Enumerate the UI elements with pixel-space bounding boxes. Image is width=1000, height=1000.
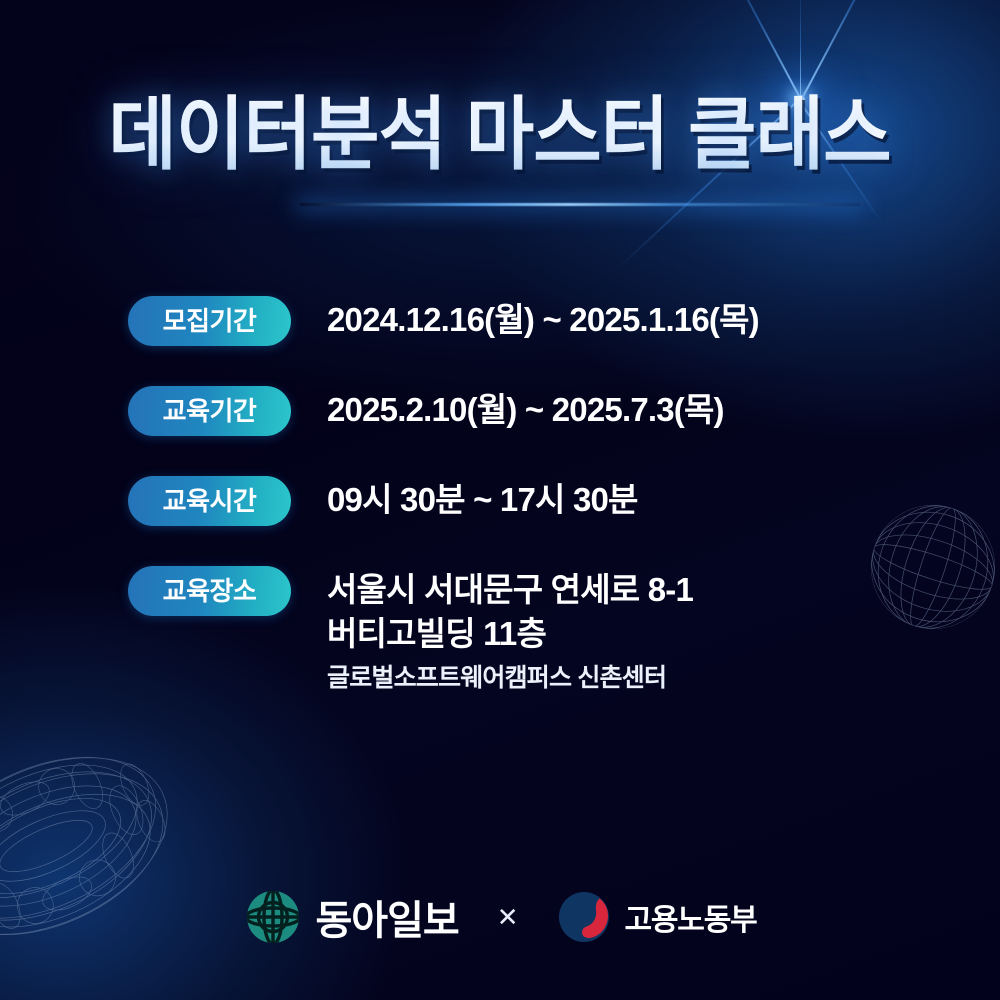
partner-left-name: 동아일보 bbox=[316, 888, 459, 946]
label-recruitment-period: 모집기간 bbox=[128, 296, 291, 346]
value-group: 서울시 서대문구 연세로 8-1 버티고빌딩 11층 글로벌소프트웨어캠퍼스 신… bbox=[327, 566, 693, 698]
label-training-hours: 교육시간 bbox=[128, 476, 291, 526]
value-recruitment-period: 2024.12.16(월) ~ 2025.1.16(목) bbox=[327, 298, 759, 342]
label-training-location: 교육장소 bbox=[128, 566, 291, 616]
page-title-text: 데이터분석 마스터 클래스 bbox=[109, 92, 891, 178]
footer-partners: 동아일보 ✕ 고용노동부 bbox=[0, 888, 1000, 946]
info-row-training-hours: 교육시간 09시 30분 ~ 17시 30분 bbox=[128, 476, 928, 526]
value-location-line2: 버티고빌딩 11층 bbox=[327, 612, 693, 656]
value-location-line1: 서울시 서대문구 연세로 8-1 bbox=[327, 568, 693, 612]
info-row-training-period: 교육기간 2025.2.10(월) ~ 2025.7.3(목) bbox=[128, 386, 928, 436]
partner-separator-icon: ✕ bbox=[493, 902, 523, 933]
value-group: 09시 30분 ~ 17시 30분 bbox=[327, 476, 638, 522]
value-group: 2025.2.10(월) ~ 2025.7.3(목) bbox=[327, 386, 724, 432]
info-row-training-location: 교육장소 서울시 서대문구 연세로 8-1 버티고빌딩 11층 글로벌소프트웨어… bbox=[128, 566, 928, 698]
info-list: 모집기간 2024.12.16(월) ~ 2025.1.16(목) 교육기간 2… bbox=[128, 296, 928, 698]
wireframe-torus-icon bbox=[0, 718, 218, 988]
label-training-period: 교육기간 bbox=[128, 386, 291, 436]
horizontal-light-streak bbox=[300, 203, 860, 206]
value-training-period: 2025.2.10(월) ~ 2025.7.3(목) bbox=[327, 388, 724, 432]
flare-ray bbox=[711, 0, 802, 100]
partner-ministry-of-employment-and-labor: 고용노동부 bbox=[557, 890, 757, 944]
value-training-hours: 09시 30분 ~ 17시 30분 bbox=[327, 478, 638, 522]
value-location-line3: 글로벌소프트웨어캠퍼스 신촌센터 bbox=[327, 660, 693, 698]
taegeuk-emblem-icon bbox=[557, 890, 611, 944]
page-title: 데이터분석 마스터 클래스 bbox=[0, 92, 1000, 178]
partner-dong-a-ilbo: 동아일보 bbox=[244, 888, 459, 946]
partner-right-name: 고용노동부 bbox=[625, 895, 757, 939]
poster-canvas: 데이터분석 마스터 클래스 모집기간 2024.12.16(월) ~ 2025.… bbox=[0, 0, 1000, 1000]
flare-ray bbox=[800, 0, 914, 101]
globe-emblem-icon bbox=[244, 888, 302, 946]
value-group: 2024.12.16(월) ~ 2025.1.16(목) bbox=[327, 296, 759, 342]
flare-ray bbox=[800, 0, 801, 100]
info-row-recruitment-period: 모집기간 2024.12.16(월) ~ 2025.1.16(목) bbox=[128, 296, 928, 346]
